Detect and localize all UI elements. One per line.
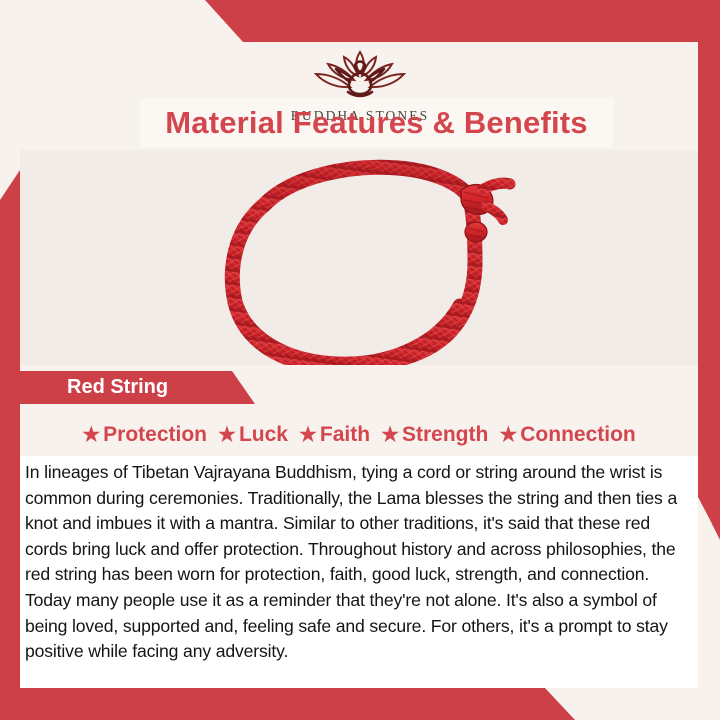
frame-left-accent	[0, 170, 20, 720]
description-paragraph: In lineages of Tibetan Vajrayana Buddhis…	[25, 460, 693, 665]
lotus-meditation-figure-icon	[0, 48, 720, 105]
frame-top-accent	[0, 0, 720, 42]
star-icon: ★	[499, 425, 517, 445]
benefit-label: Connection	[520, 423, 636, 447]
benefit-protection: ★ Protection	[82, 423, 207, 447]
benefit-connection: ★ Connection	[499, 423, 635, 447]
frame-bottom-accent	[0, 688, 600, 720]
page-title: Material Features & Benefits	[140, 98, 613, 147]
star-icon: ★	[381, 425, 399, 445]
star-icon: ★	[218, 425, 236, 445]
red-string-bracelet-photo	[20, 150, 698, 365]
description-block: In lineages of Tibetan Vajrayana Buddhis…	[20, 456, 698, 688]
product-label-text: Red String	[67, 371, 168, 404]
infographic-page: BUDDHA STONES Material Features & Benefi…	[0, 0, 720, 720]
benefits-row: ★ Protection ★ Luck ★ Faith ★ Strength ★…	[20, 415, 698, 455]
benefit-label: Strength	[402, 423, 488, 447]
benefit-luck: ★ Luck	[218, 423, 288, 447]
benefit-faith: ★ Faith	[299, 423, 370, 447]
benefit-strength: ★ Strength	[381, 423, 488, 447]
star-icon: ★	[82, 425, 100, 445]
benefit-label: Protection	[103, 423, 207, 447]
star-icon: ★	[299, 425, 317, 445]
product-image-area	[20, 150, 698, 365]
benefit-label: Luck	[239, 423, 288, 447]
benefit-label: Faith	[320, 423, 370, 447]
